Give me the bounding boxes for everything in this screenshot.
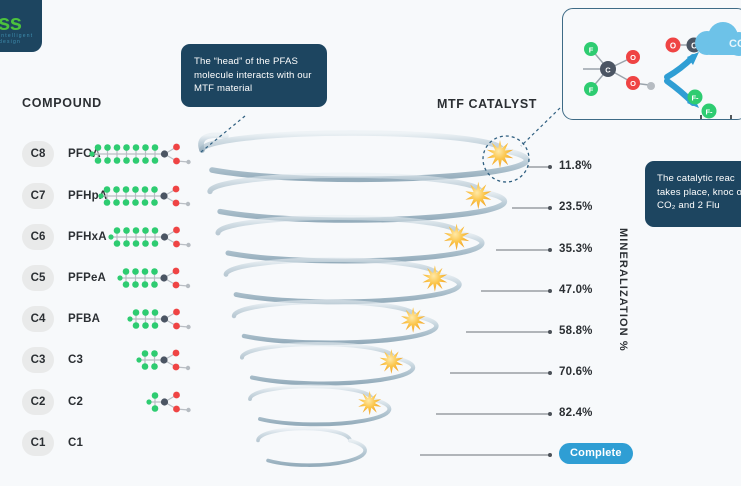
hydrogen-atom — [647, 82, 655, 90]
compound-carbon-badge: C4 — [22, 306, 54, 332]
compound-carbon-badge: C1 — [22, 430, 54, 456]
infographic-canvas: ss intelligent design COMPOUND MTF CATAL… — [0, 0, 741, 486]
compound-carbon-badge: C6 — [22, 224, 54, 250]
complete-status-badge: Complete — [559, 443, 633, 464]
mineralization-percent: 11.8% — [559, 160, 592, 172]
compound-row[interactable]: C6PFHxA — [0, 224, 215, 250]
mineralization-percent: 70.6% — [559, 366, 593, 378]
callout-catalytic-reaction: The catalytic reac takes place, knoc off… — [645, 161, 741, 227]
mineralization-axis-label: MINERALIZATION % — [611, 228, 629, 352]
callout-pfas-head-text: The “head” of the PFAS molecule interact… — [194, 56, 312, 94]
molecule-diagram — [109, 224, 201, 250]
compound-name: PFHxA — [68, 224, 107, 250]
mineralization-percent: 47.0% — [559, 284, 593, 296]
compound-row[interactable]: C7PFHpA — [0, 183, 215, 209]
svg-text:O: O — [670, 42, 676, 51]
svg-text:C: C — [605, 66, 611, 75]
svg-text:F: F — [589, 46, 594, 55]
svg-text:O: O — [630, 53, 636, 62]
mineralization-percent: 23.5% — [559, 201, 593, 213]
molecule-diagram — [99, 183, 200, 209]
catalytic-reaction-inset: F F C O O O C O — [562, 8, 741, 120]
mineralization-percent: 35.3% — [559, 243, 593, 255]
compound-row[interactable]: C2C2 — [0, 389, 215, 415]
compound-name: C1 — [68, 430, 83, 456]
compound-carbon-badge: C8 — [22, 141, 54, 167]
mineralization-percent: 82.4% — [559, 407, 593, 419]
compound-carbon-badge: C7 — [22, 183, 54, 209]
molecule-diagram — [137, 347, 200, 373]
compound-name: PFPeA — [68, 265, 106, 291]
svg-text:O: O — [630, 79, 636, 88]
svg-text:F-: F- — [705, 108, 713, 117]
svg-text:F-: F- — [691, 94, 699, 103]
compound-row[interactable]: C3C3 — [0, 347, 215, 373]
molecule-diagram — [147, 389, 201, 415]
compound-name: C2 — [68, 389, 83, 415]
compound-row[interactable]: C8PFOA — [0, 141, 215, 167]
compound-row[interactable]: C1C1 — [0, 430, 215, 456]
cloud-label: CO₂ — [729, 38, 741, 50]
compound-carbon-badge: C3 — [22, 347, 54, 373]
callout-catalytic-reaction-text: The catalytic reac takes place, knoc off… — [657, 173, 741, 211]
molecule-diagram — [90, 141, 201, 167]
molecule-diagram — [118, 265, 200, 291]
callout-pfas-head: The “head” of the PFAS molecule interact… — [181, 44, 327, 107]
mineralization-percent: 58.8% — [559, 325, 593, 337]
svg-text:F: F — [589, 86, 594, 95]
compound-carbon-badge: C2 — [22, 389, 54, 415]
molecule-diagram — [128, 306, 201, 332]
compound-carbon-badge: C5 — [22, 265, 54, 291]
compound-name: PFBA — [68, 306, 100, 332]
compound-name: C3 — [68, 347, 83, 373]
co2-cloud-icon: CO₂ — [689, 21, 741, 59]
compound-row[interactable]: C5PFPeA — [0, 265, 215, 291]
compound-row[interactable]: C4PFBA — [0, 306, 215, 332]
